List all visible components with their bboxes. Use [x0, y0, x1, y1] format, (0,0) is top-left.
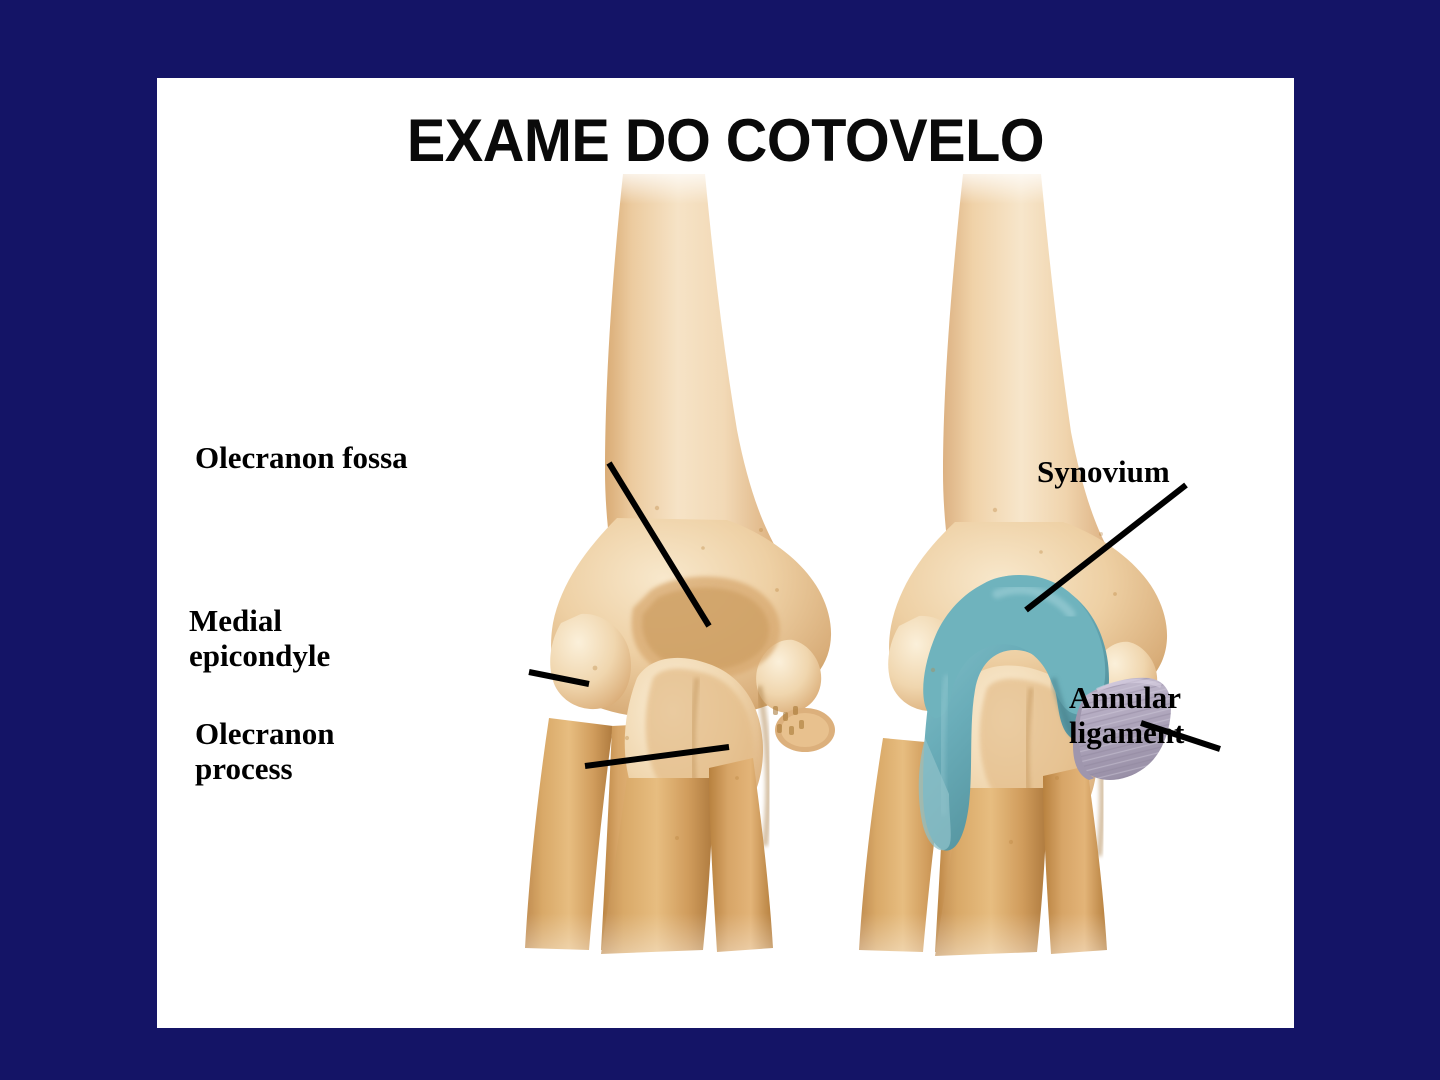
slide-content-panel: EXAME DO COTOVELO Olecranon fossa Medial… [157, 78, 1294, 1028]
left-elbow-specimen [497, 164, 835, 1028]
anatomy-label-medial-epicondyle: Medial epicondyle [189, 604, 330, 673]
anatomy-label-synovium: Synovium [1037, 455, 1170, 490]
slide-canvas: EXAME DO COTOVELO Olecranon fossa Medial… [0, 0, 1440, 1080]
anatomy-label-olecranon-process: Olecranon process [195, 717, 335, 786]
right-elbow-specimen [833, 164, 1171, 1028]
anatomy-label-annular-ligament: Annular ligament [1069, 681, 1184, 750]
anatomy-label-olecranon-fossa: Olecranon fossa [195, 441, 408, 476]
anatomy-illustration [157, 78, 1294, 1028]
